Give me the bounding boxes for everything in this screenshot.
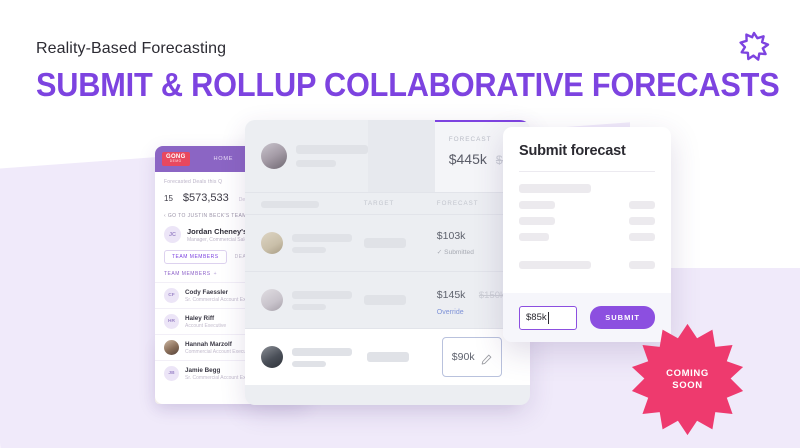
- forecast-column-headers: TARGET FORECAST C: [245, 192, 530, 214]
- dialog-body: [503, 172, 671, 269]
- avatar: [261, 232, 283, 254]
- section-label: TEAM MEMBERS: [164, 271, 211, 277]
- override-link[interactable]: Override: [437, 309, 509, 316]
- coming-soon-badge: COMING SOON: [630, 322, 745, 437]
- row-status: ✓ Submitted: [437, 248, 509, 256]
- slide-canvas: Reality-Based Forecasting SUBMIT & ROLLU…: [0, 0, 800, 448]
- summary-target-cell: [368, 120, 435, 192]
- placeholder-row-value: [629, 233, 655, 241]
- member-role: Sr. Commercial Account Exe...: [185, 375, 253, 381]
- gong-logo-subtext: DEMO: [166, 160, 186, 163]
- placeholder-row-label: [519, 201, 555, 209]
- eyebrow-text: Reality-Based Forecasting: [36, 40, 226, 58]
- member-role: Account Executive: [185, 323, 226, 329]
- member-name: Haley Riff: [185, 315, 226, 322]
- forecast-summary-header: FORECAST $445k $450k: [245, 120, 530, 192]
- column-header-target: TARGET: [356, 200, 423, 207]
- gong-logo: GONG DEMO: [162, 152, 190, 166]
- member-name: Hannah Marzolf: [185, 341, 253, 348]
- badge-line-2: SOON: [672, 380, 702, 392]
- placeholder-name: [292, 234, 352, 242]
- avatar: JC: [164, 226, 181, 243]
- avatar: CF: [164, 288, 179, 303]
- starburst-logo-icon: [738, 30, 770, 62]
- dialog-title: Submit forecast: [503, 127, 671, 159]
- row-previous-amount: $150k: [479, 290, 505, 301]
- placeholder-row-value: [629, 217, 655, 225]
- placeholder-name: [296, 145, 368, 154]
- submit-forecast-dialog[interactable]: Submit forecast $85k: [503, 127, 671, 342]
- text-cursor: [548, 312, 549, 324]
- placeholder-heading: [519, 184, 591, 193]
- breadcrumb-label: GO TO JUSTIN BECK'S TEAM: [168, 213, 247, 219]
- add-member-icon[interactable]: +: [214, 271, 217, 277]
- avatar: JB: [164, 366, 179, 381]
- placeholder-name: [292, 348, 352, 356]
- placeholder-row-label: [519, 217, 555, 225]
- forecast-row-active[interactable]: $90k: [245, 328, 530, 385]
- forecast-edit-field[interactable]: $90k: [442, 337, 502, 377]
- placeholder-target: [364, 238, 406, 248]
- pencil-icon[interactable]: [481, 352, 492, 363]
- row-forecast-amount: $145k: [437, 289, 466, 301]
- avatar: [164, 340, 179, 355]
- badge-line-1: COMING: [666, 368, 709, 380]
- row-status-label: Submitted: [444, 249, 474, 256]
- column-header-forecast: FORECAST: [423, 200, 509, 207]
- placeholder-total-label: [519, 261, 591, 269]
- placeholder-role: [292, 247, 326, 253]
- forecast-rollup-panel[interactable]: FORECAST $445k $450k TARGET FORECAST C: [245, 120, 530, 405]
- summary-identity: [245, 120, 368, 192]
- forecast-row[interactable]: $103k ✓ Submitted: [245, 214, 530, 271]
- member-name: Jamie Begg: [185, 367, 253, 374]
- avatar: [261, 143, 287, 169]
- page-title: SUBMIT & ROLLUP COLLABORATIVE FORECASTS: [36, 66, 780, 104]
- placeholder-target: [364, 295, 406, 305]
- placeholder-role: [292, 361, 326, 367]
- placeholder-role: [292, 304, 326, 310]
- placeholder-name: [292, 291, 352, 299]
- placeholder-target: [367, 352, 409, 362]
- placeholder-row-value: [629, 201, 655, 209]
- avatar: [261, 346, 283, 368]
- tab-team-members[interactable]: TEAM MEMBERS: [164, 250, 227, 264]
- placeholder-row-label: [519, 233, 549, 241]
- avatar: [261, 289, 283, 311]
- row-forecast-amount: $103k: [437, 230, 509, 242]
- forecast-amount-input[interactable]: $85k: [519, 306, 577, 330]
- kpi-value: $573,533: [183, 192, 229, 204]
- placeholder-total-value: [629, 261, 655, 269]
- placeholder-role: [296, 160, 336, 167]
- member-role: Commercial Account Executi...: [185, 349, 253, 355]
- row-forecast-amount: $90k: [452, 351, 475, 363]
- kpi-count: 15: [164, 194, 173, 203]
- input-value: $85k: [526, 312, 547, 323]
- nav-item-home[interactable]: HOME: [214, 156, 234, 162]
- forecast-row[interactable]: $145k $150k Override: [245, 271, 530, 328]
- check-icon: ✓: [437, 249, 443, 256]
- avatar: HR: [164, 314, 179, 329]
- badge-text: COMING SOON: [630, 322, 745, 437]
- placeholder-col-name: [261, 201, 319, 208]
- forecast-amount: $445k: [449, 151, 487, 167]
